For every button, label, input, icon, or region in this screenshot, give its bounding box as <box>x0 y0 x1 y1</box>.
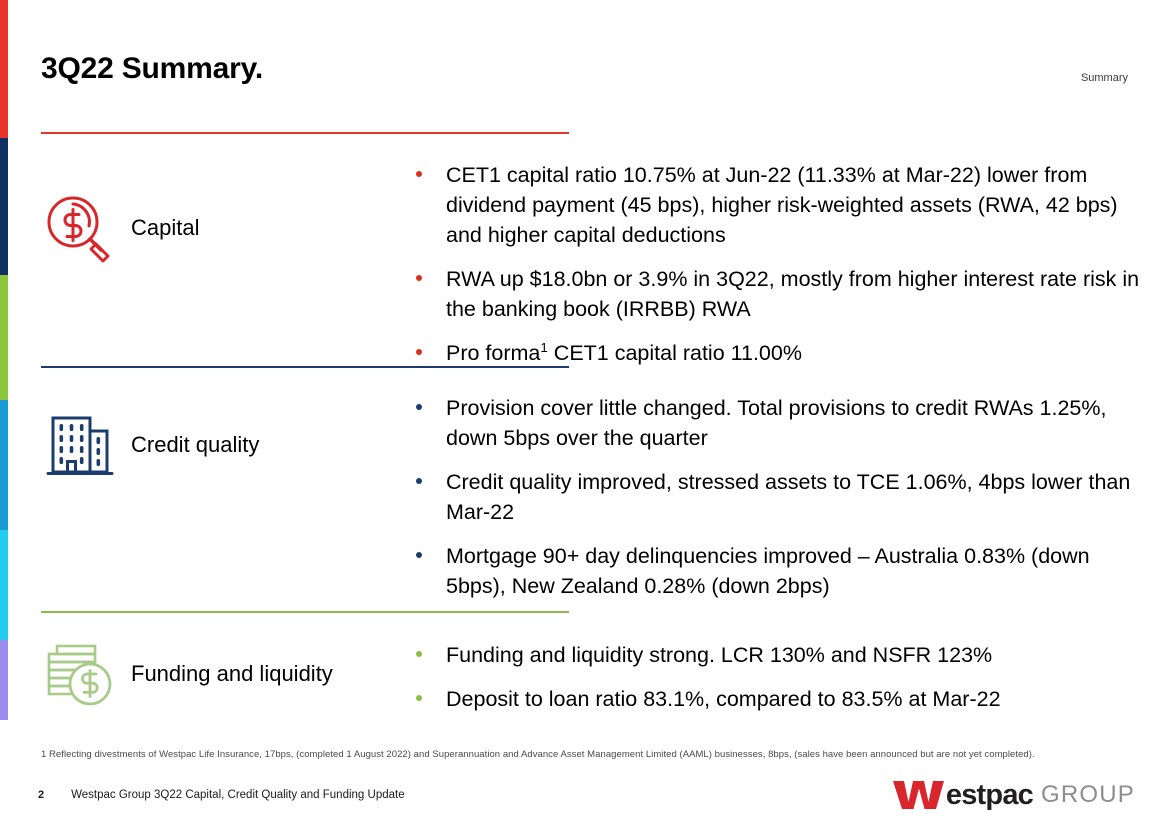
bullet-item: Credit quality improved, stressed assets… <box>402 467 1147 527</box>
divider-funding <box>41 611 569 613</box>
bullet-dot <box>416 349 422 355</box>
bullet-item: CET1 capital ratio 10.75% at Jun-22 (11.… <box>402 160 1147 250</box>
bullet-dot <box>416 275 422 281</box>
bullet-item: Mortgage 90+ day delinquencies improved … <box>402 541 1147 601</box>
bullet-dot <box>416 695 422 701</box>
divider-capital <box>41 132 569 134</box>
bullet-text: Mortgage 90+ day delinquencies improved … <box>446 544 1090 598</box>
westpac-group-logo: estpac GROUP <box>891 778 1135 812</box>
section-funding-bullets: Funding and liquidity strong. LCR 130% a… <box>402 640 1147 714</box>
bullet-item: Provision cover little changed. Total pr… <box>402 393 1147 453</box>
westpac-wordmark: estpac <box>891 778 1033 812</box>
bullet-item: Pro forma1 CET1 capital ratio 11.00% <box>402 338 1147 368</box>
footer-caption: Westpac Group 3Q22 Capital, Credit Quali… <box>71 789 404 801</box>
bullet-text: Provision cover little changed. Total pr… <box>446 396 1106 450</box>
bullet-text: CET1 capital ratio 10.75% at Jun-22 (11.… <box>446 163 1118 247</box>
bullet-item: Deposit to loan ratio 83.1%, compared to… <box>402 684 1147 714</box>
section-funding-header: Funding and liquidity <box>41 636 333 712</box>
bullet-dot <box>416 171 422 177</box>
coins-dollar-icon <box>41 636 117 712</box>
westpac-group-text: GROUP <box>1041 781 1135 809</box>
footnote-marker: 1 <box>540 340 547 355</box>
accent-segment-blue <box>0 400 8 530</box>
bullet-dot <box>416 404 422 410</box>
bullet-text: Credit quality improved, stressed assets… <box>446 470 1130 524</box>
westpac-wordmark-text: estpac <box>946 779 1033 812</box>
bullet-item: RWA up $18.0bn or 3.9% in 3Q22, mostly f… <box>402 264 1147 324</box>
section-credit-header: Credit quality <box>41 407 259 483</box>
page-title: 3Q22 Summary. <box>41 52 263 86</box>
left-accent-bar <box>0 0 8 720</box>
magnifier-dollar-icon <box>41 190 117 266</box>
accent-segment-red <box>0 0 8 138</box>
bullet-text: Funding and liquidity strong. LCR 130% a… <box>446 643 992 667</box>
bullet-text: Deposit to loan ratio 83.1%, compared to… <box>446 687 1001 711</box>
bullet-text-pre: Pro forma <box>446 341 540 365</box>
bullet-dot <box>416 478 422 484</box>
westpac-w-mark <box>891 778 947 812</box>
footnote-text: 1 Reflecting divestments of Westpac Life… <box>41 749 1035 760</box>
page-number: 2 <box>38 789 44 801</box>
section-capital-header: Capital <box>41 190 199 266</box>
accent-segment-purple <box>0 640 8 720</box>
section-credit-bullets: Provision cover little changed. Total pr… <box>402 393 1147 601</box>
bullet-item: Funding and liquidity strong. LCR 130% a… <box>402 640 1147 670</box>
footer: 2 Westpac Group 3Q22 Capital, Credit Qua… <box>38 789 405 801</box>
bullet-text: RWA up $18.0bn or 3.9% in 3Q22, mostly f… <box>446 267 1139 321</box>
section-capital-bullets: CET1 capital ratio 10.75% at Jun-22 (11.… <box>402 160 1147 368</box>
accent-segment-cyan <box>0 530 8 640</box>
accent-segment-navy <box>0 138 8 275</box>
bullet-dot <box>416 552 422 558</box>
bullet-text-post: CET1 capital ratio 11.00% <box>548 341 802 365</box>
slide-3q22-summary: 3Q22 Summary. Summary Capital CET1 <box>0 0 1168 826</box>
section-funding-label: Funding and liquidity <box>131 661 333 687</box>
building-icon <box>41 407 117 483</box>
accent-segment-green <box>0 275 8 400</box>
section-capital-label: Capital <box>131 215 199 241</box>
section-credit-label: Credit quality <box>131 432 259 458</box>
bullet-dot <box>416 651 422 657</box>
section-tag: Summary <box>1081 72 1128 84</box>
